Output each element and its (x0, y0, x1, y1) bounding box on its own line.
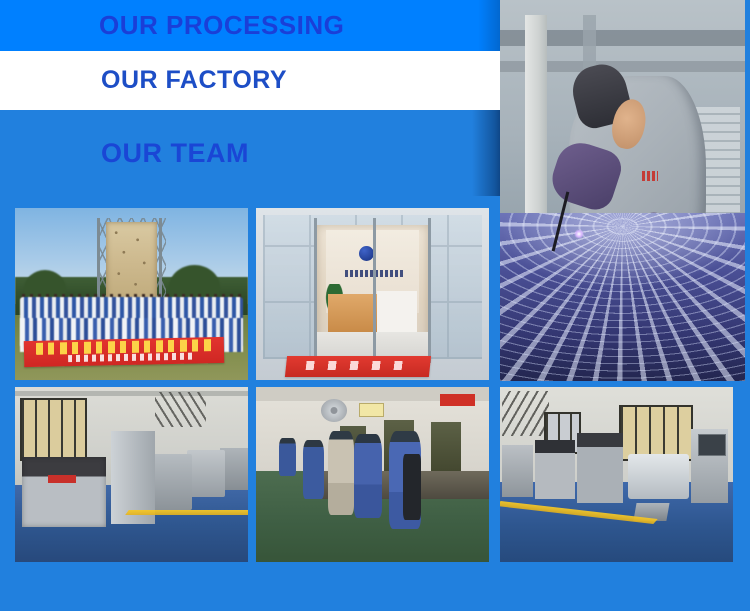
red-wall-banner (440, 394, 475, 406)
worker (303, 440, 324, 500)
door-mullion (373, 218, 376, 362)
banner-title-factory: OUR FACTORY (101, 66, 287, 95)
support-column (525, 15, 547, 221)
banner-title-team: OUR TEAM (101, 138, 249, 169)
photo-machine-line-left (15, 387, 248, 562)
machine-line-right-scene (500, 387, 733, 562)
wall-fan-icon (321, 399, 347, 422)
window (20, 398, 87, 462)
machine-foreground (22, 457, 106, 527)
wall-sign (359, 403, 384, 417)
floor-lane-marking (125, 510, 248, 515)
photo-machining-workshop (256, 387, 489, 562)
worker (328, 431, 354, 515)
machine (187, 450, 224, 497)
banner-row-processing: OUR PROCESSING (0, 0, 500, 51)
machining-workshop-scene (256, 387, 489, 562)
welcome-carpet (285, 356, 432, 377)
photo-team-group (15, 208, 248, 380)
roof-truss (502, 391, 549, 437)
banner-text-secondary (68, 353, 192, 362)
team-group-scene (15, 208, 248, 380)
drill-press (431, 422, 461, 473)
door-mullion (314, 218, 317, 362)
machine (577, 433, 624, 503)
company-logo-icon (359, 246, 374, 261)
machine (502, 445, 532, 498)
reception-desk-panel (377, 291, 417, 332)
banner-row-factory: OUR FACTORY (0, 51, 500, 110)
photo-machine-line-right (500, 387, 733, 562)
carpet-text (306, 361, 411, 370)
banner-title-processing: OUR PROCESSING (99, 10, 344, 41)
weld-spark (574, 229, 584, 239)
door-mullion (428, 218, 431, 362)
worker-apron (403, 454, 422, 521)
uniform-badge (642, 171, 658, 181)
office-entrance-scene (256, 208, 489, 380)
welding-mixer-scene (500, 0, 745, 381)
factory-showcase-page: OUR PROCESSING OUR FACTORY OUR TEAM (0, 0, 750, 611)
machine (150, 454, 192, 510)
machine (535, 440, 575, 500)
roof-truss (155, 392, 206, 427)
ceiling-beam (15, 391, 248, 396)
photo-office-entrance (256, 208, 489, 380)
banner-row-team: OUR TEAM (0, 110, 500, 196)
photo-welding-mixer (500, 0, 745, 381)
ribbon-agitator (500, 213, 745, 381)
machine-line-left-scene (15, 387, 248, 562)
window (619, 405, 693, 462)
banner-text-primary (36, 339, 213, 355)
machine-brand-label (48, 475, 76, 484)
ribbon-blender-drum (628, 454, 689, 500)
worker (354, 434, 382, 518)
worker (279, 438, 295, 477)
control-panel (698, 434, 726, 455)
red-banner (24, 337, 225, 367)
